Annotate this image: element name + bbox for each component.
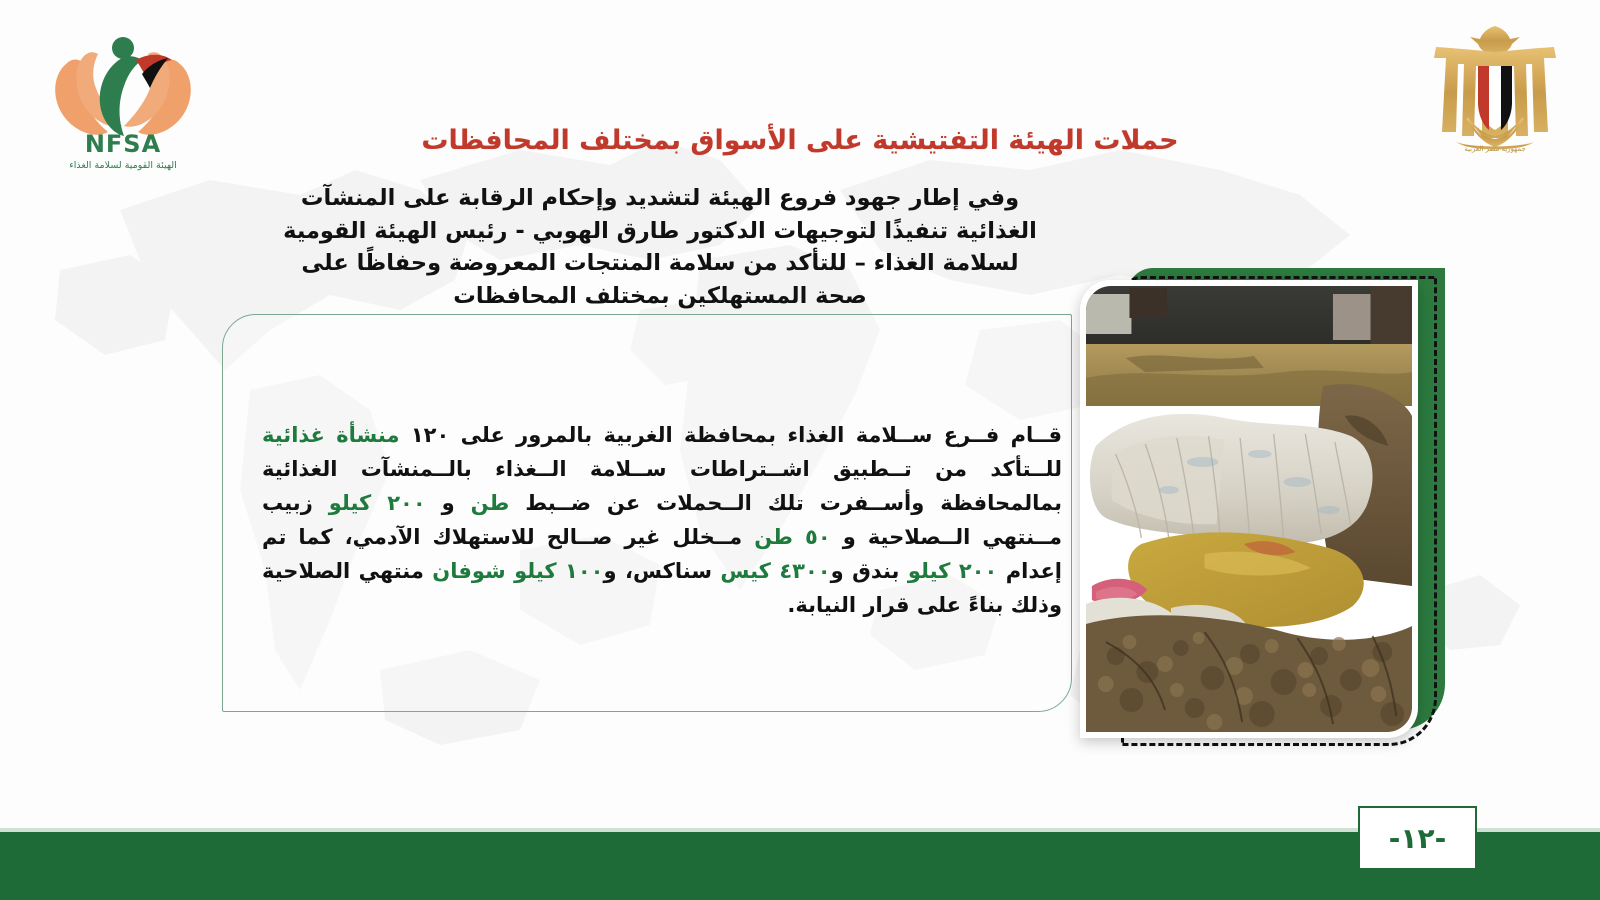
body-text-run: سناكس، و: [604, 559, 721, 583]
intro-paragraph: وفي إطار جهود فروع الهيئة لتشديد وإحكام …: [280, 182, 1040, 313]
nfsa-logo: NFSA الهيئة القومية لسلامة الغذاء: [38, 22, 208, 174]
body-text-run: و: [426, 491, 471, 515]
highlight-text: ٢٠٠ كيلو: [329, 491, 426, 515]
highlight-text: ٢٠٠ كيلو: [908, 559, 997, 583]
egypt-eagle-emblem-icon: جمهورية مصر العربية: [1412, 14, 1578, 156]
highlight-text: منشأة غذائية: [262, 423, 399, 447]
body-text: قــام فــرع ســلامة الغذاء بمحافظة الغرب…: [262, 418, 1062, 622]
svg-text:الهيئة القومية لسلامة الغذاء: الهيئة القومية لسلامة الغذاء: [69, 160, 177, 171]
highlight-text: ٤٣٠٠ كيس: [720, 559, 830, 583]
slide-root: NFSA الهيئة القومية لسلامة الغذاء: [0, 0, 1600, 900]
body-text-run: بندق و: [831, 559, 908, 583]
svg-text:NFSA: NFSA: [85, 130, 161, 158]
photo-block: [1075, 268, 1445, 760]
highlight-text: ٥٠ طن: [754, 525, 830, 549]
highlight-text: ١٠٠ كيلو شوفان: [432, 559, 603, 583]
photo-white-frame: [1080, 280, 1418, 738]
body-text-run: قــام فــرع ســلامة الغذاء بمحافظة الغرب…: [399, 423, 1062, 447]
svg-text:جمهورية مصر العربية: جمهورية مصر العربية: [1464, 145, 1526, 153]
inspection-site-photo: [1086, 286, 1412, 732]
page-title: حملات الهيئة التفتيشية على الأسواق بمختل…: [300, 124, 1300, 158]
page-number: -١٢-: [1358, 806, 1477, 870]
highlight-text: طن: [471, 491, 510, 515]
